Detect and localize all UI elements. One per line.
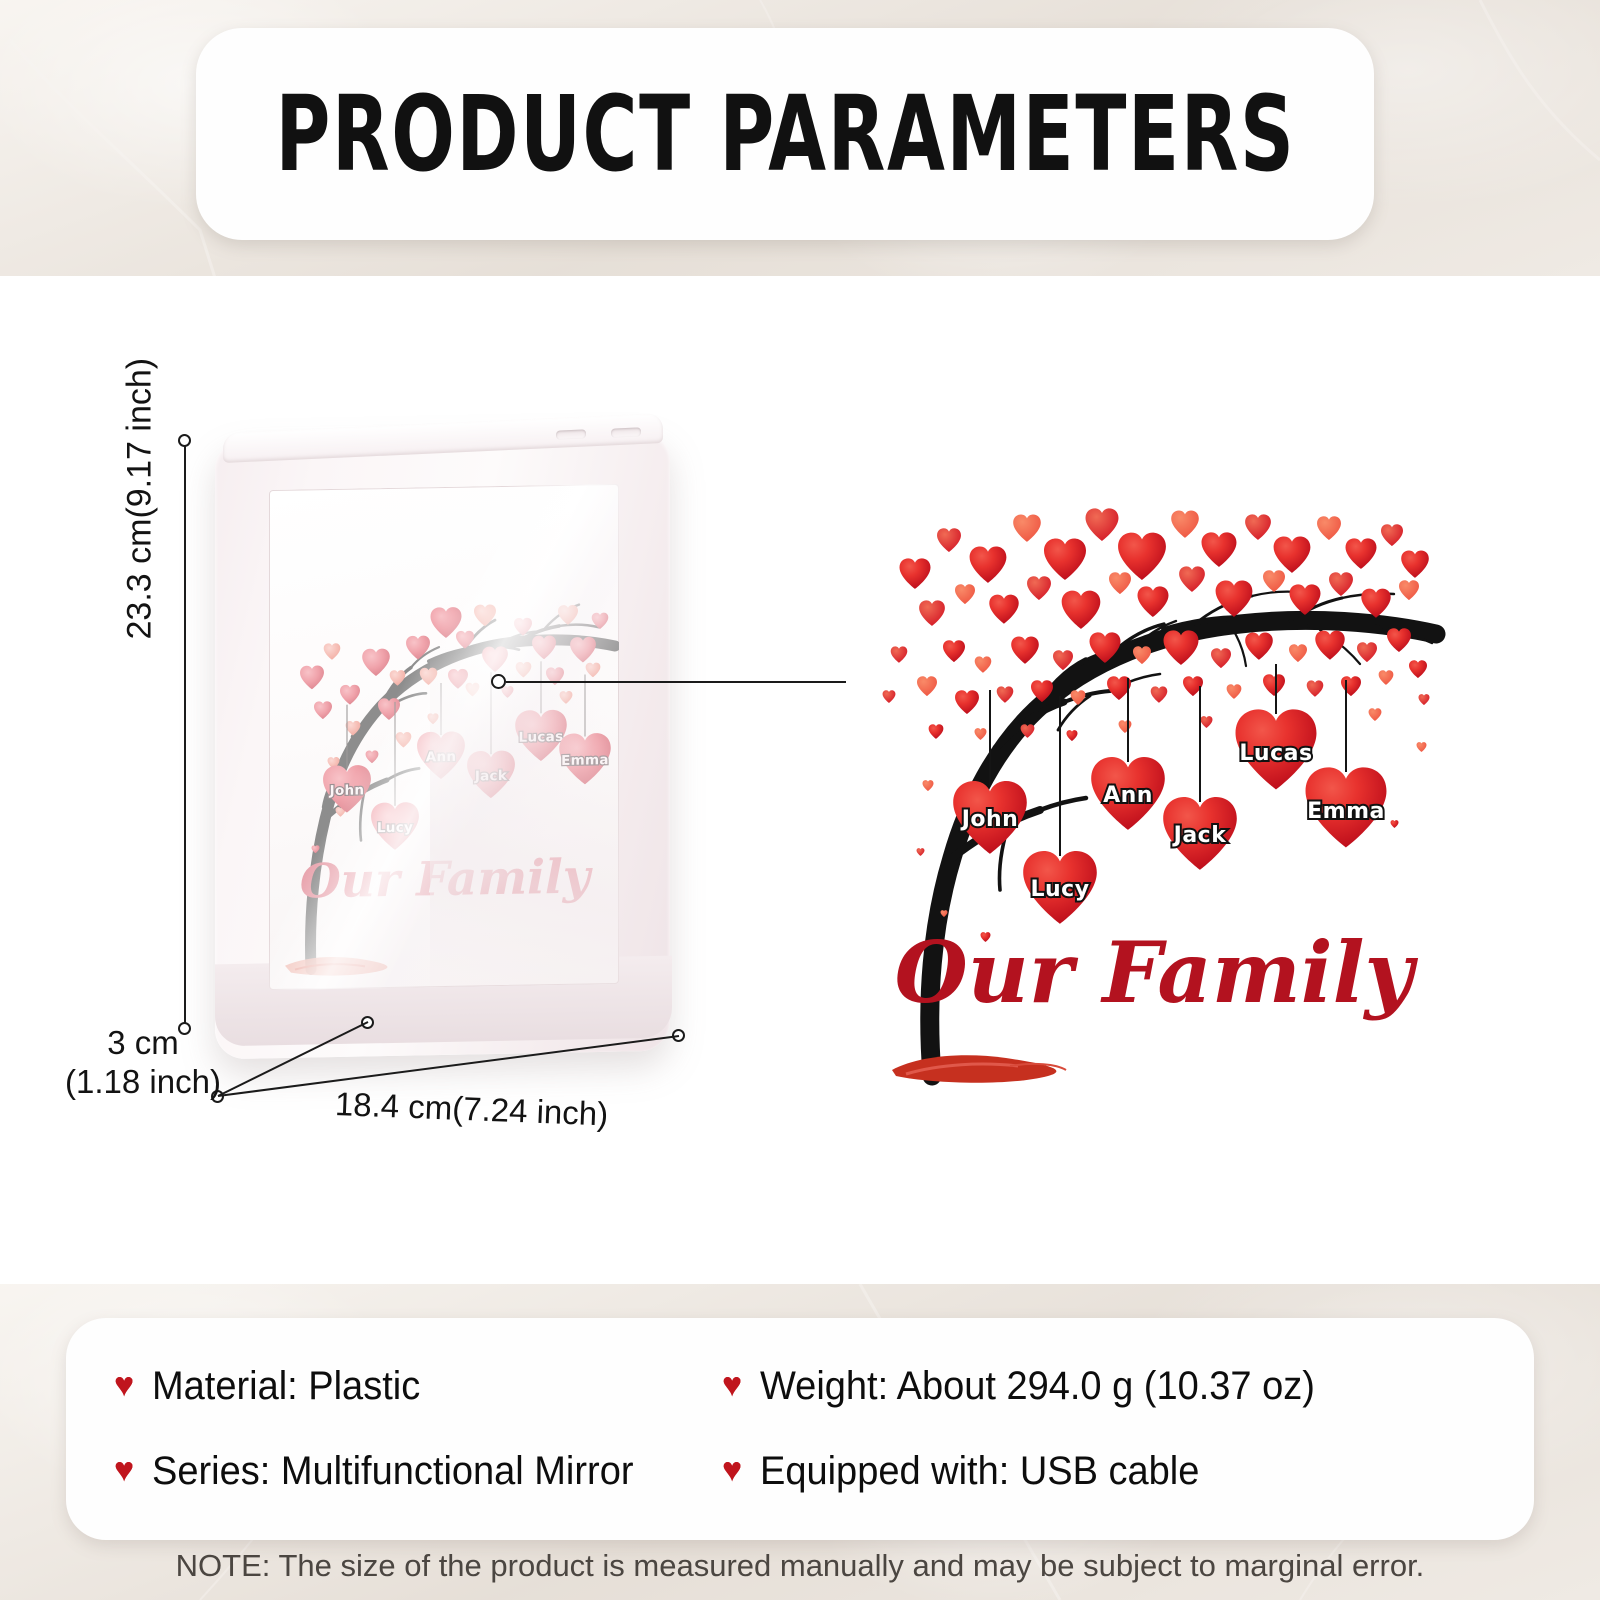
page-title: PRODUCT PARAMETERS (275, 82, 1295, 186)
height-dimension-label: 23.3 cm(9.17 inch) (121, 570, 160, 640)
mirror-name-lucy: Lucy (377, 820, 413, 837)
mirror-name-emma: Emma (561, 752, 609, 769)
callout-leader-line (506, 681, 846, 683)
illustration-our-family-script: Our Family (895, 923, 1419, 1022)
dimension-node-top-left (178, 434, 191, 447)
heart-suit-icon: ♥ (114, 1368, 134, 1402)
heart-suit-icon: ♥ (114, 1453, 134, 1487)
illustration-name-lucas: Lucas (1239, 741, 1312, 766)
measurement-note: NOTE: The size of the product is measure… (0, 1548, 1600, 1584)
specifications-card: ♥ Material: Plastic ♥ Weight: About 294.… (66, 1318, 1534, 1540)
specifications-grid: ♥ Material: Plastic ♥ Weight: About 294.… (66, 1318, 1534, 1540)
illustration-name-john: John (960, 807, 1019, 832)
illustration-name-jack: Jack (1172, 823, 1228, 848)
power-button[interactable] (556, 429, 586, 439)
callout-point-marker (491, 674, 506, 689)
spec-row-equipped-with: ♥ Equipped with: USB cable (722, 1429, 1534, 1514)
page-title-card: PRODUCT PARAMETERS (196, 28, 1374, 240)
depth-inch-value: (1.18 inch) (48, 1063, 238, 1102)
spec-row-series: ♥ Series: Multifunctional Mirror (114, 1429, 722, 1514)
mode-button[interactable] (611, 427, 641, 437)
family-tree-illustration: John Lucy Ann Jack Lucas Emma Our Family (870, 480, 1450, 1100)
mirror-name-ann: Ann (426, 749, 457, 766)
spec-row-weight: ♥ Weight: About 294.0 g (10.37 oz) (722, 1344, 1534, 1429)
depth-cm-value: 3 cm (48, 1024, 238, 1063)
illustration-name-emma: Emma (1307, 799, 1385, 824)
mirror-name-jack: Jack (474, 768, 508, 785)
artwork-detail-illustration: John Lucy Ann Jack Lucas Emma Our Family (870, 480, 1450, 1100)
mirror-tree-artwork: John Lucy Ann Jack Lucas Emma (269, 484, 619, 990)
product-photo: John Lucy Ann Jack Lucas Emma (175, 415, 715, 1115)
height-dimension-line (184, 440, 186, 1030)
mirror-our-family-script: Our Family (300, 849, 593, 909)
mirror-panel: John Lucy Ann Jack Lucas Emma (269, 484, 619, 990)
spec-equipped-label: Equipped with: USB cable (760, 1449, 1199, 1494)
mirror-name-lucas: Lucas (519, 729, 564, 746)
infographic-page: PRODUCT PARAMETERS (0, 0, 1600, 1600)
heart-suit-icon: ♥ (722, 1453, 742, 1487)
spec-row-material: ♥ Material: Plastic (114, 1344, 722, 1429)
dimension-node-depth-top (361, 1016, 374, 1029)
spec-weight-label: Weight: About 294.0 g (10.37 oz) (760, 1364, 1315, 1409)
spec-series-label: Series: Multifunctional Mirror (152, 1449, 633, 1494)
heart-suit-icon: ♥ (722, 1368, 742, 1402)
mirror-name-john: John (329, 782, 365, 799)
spec-material-label: Material: Plastic (152, 1364, 420, 1409)
illustration-name-lucy: Lucy (1030, 877, 1089, 902)
illustration-name-ann: Ann (1103, 783, 1153, 808)
tree-ground (892, 1055, 1066, 1082)
dimension-node-width-right (672, 1029, 685, 1042)
depth-dimension-label: 3 cm (1.18 inch) (48, 1024, 238, 1102)
